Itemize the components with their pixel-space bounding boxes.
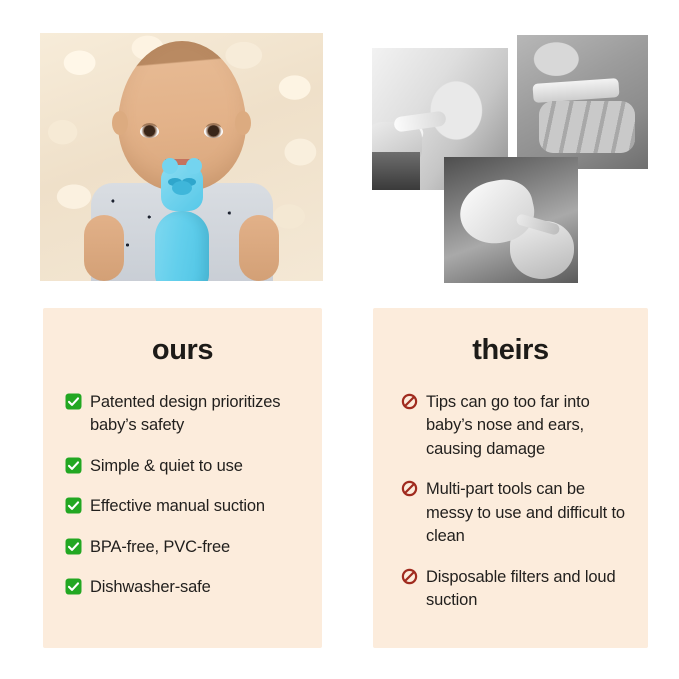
list-item: Simple & quiet to use xyxy=(65,455,312,478)
panel-theirs-heading: theirs xyxy=(373,336,648,365)
comparison-panels: ours Patented design prioritizes baby’s … xyxy=(0,308,679,648)
white-check-mark-green-square-icon xyxy=(65,497,82,514)
prohibited-no-entry-icon xyxy=(401,568,418,585)
baby-right-eye xyxy=(204,125,223,138)
comparison-page: ours Patented design prioritizes baby’s … xyxy=(0,0,679,679)
baby-with-nasal-aspirator-photo xyxy=(40,33,323,281)
panel-ours-heading: ours xyxy=(43,336,322,365)
list-item: Disposable filters and loud suction xyxy=(401,566,634,613)
ours-feature-list: Patented design prioritizes baby’s safet… xyxy=(65,391,322,600)
theirs-feature-list: Tips can go too far into baby’s nose and… xyxy=(401,391,648,612)
list-item-label: Patented design prioritizes baby’s safet… xyxy=(90,393,280,434)
aspirator-handle xyxy=(155,211,209,281)
bulb-syringe-photo xyxy=(444,157,578,283)
white-check-mark-green-square-icon xyxy=(65,578,82,595)
panel-ours: ours Patented design prioritizes baby’s … xyxy=(43,308,322,648)
baby-right-arm xyxy=(239,215,279,281)
list-item-label: Tips can go too far into baby’s nose and… xyxy=(426,393,590,458)
electric-aspirator-in-hand-photo xyxy=(517,35,648,169)
photo-shadow xyxy=(372,152,420,190)
prohibited-no-entry-icon xyxy=(401,480,418,497)
white-check-mark-green-square-icon xyxy=(65,538,82,555)
white-check-mark-green-square-icon xyxy=(65,457,82,474)
electric-aspirator-device xyxy=(532,78,619,103)
list-item: Multi-part tools can be messy to use and… xyxy=(401,478,634,548)
list-item-label: Simple & quiet to use xyxy=(90,457,243,475)
media-row xyxy=(0,0,679,300)
list-item: Effective manual suction xyxy=(65,495,312,518)
baby-left-eye xyxy=(140,125,159,138)
list-item: Dishwasher-safe xyxy=(65,576,312,599)
competitor-products-collage xyxy=(365,30,655,285)
caregiver-fingers xyxy=(539,101,635,153)
nasal-tip xyxy=(393,110,447,132)
list-item-label: BPA-free, PVC-free xyxy=(90,538,230,556)
aspirator-bear-head-icon xyxy=(161,165,203,211)
list-item-label: Effective manual suction xyxy=(90,497,265,515)
baby-left-arm xyxy=(84,215,124,281)
bear-face xyxy=(172,181,192,195)
baby-left-ear xyxy=(112,111,128,135)
prohibited-no-entry-icon xyxy=(401,393,418,410)
list-item: BPA-free, PVC-free xyxy=(65,536,312,559)
panel-theirs: theirs Tips can go too far into baby’s n… xyxy=(373,308,648,648)
list-item: Patented design prioritizes baby’s safet… xyxy=(65,391,312,438)
white-check-mark-green-square-icon xyxy=(65,393,82,410)
baby-right-ear xyxy=(235,111,251,135)
list-item-label: Multi-part tools can be messy to use and… xyxy=(426,480,625,545)
list-item: Tips can go too far into baby’s nose and… xyxy=(401,391,634,461)
list-item-label: Dishwasher-safe xyxy=(90,578,211,596)
list-item-label: Disposable filters and loud suction xyxy=(426,568,615,609)
